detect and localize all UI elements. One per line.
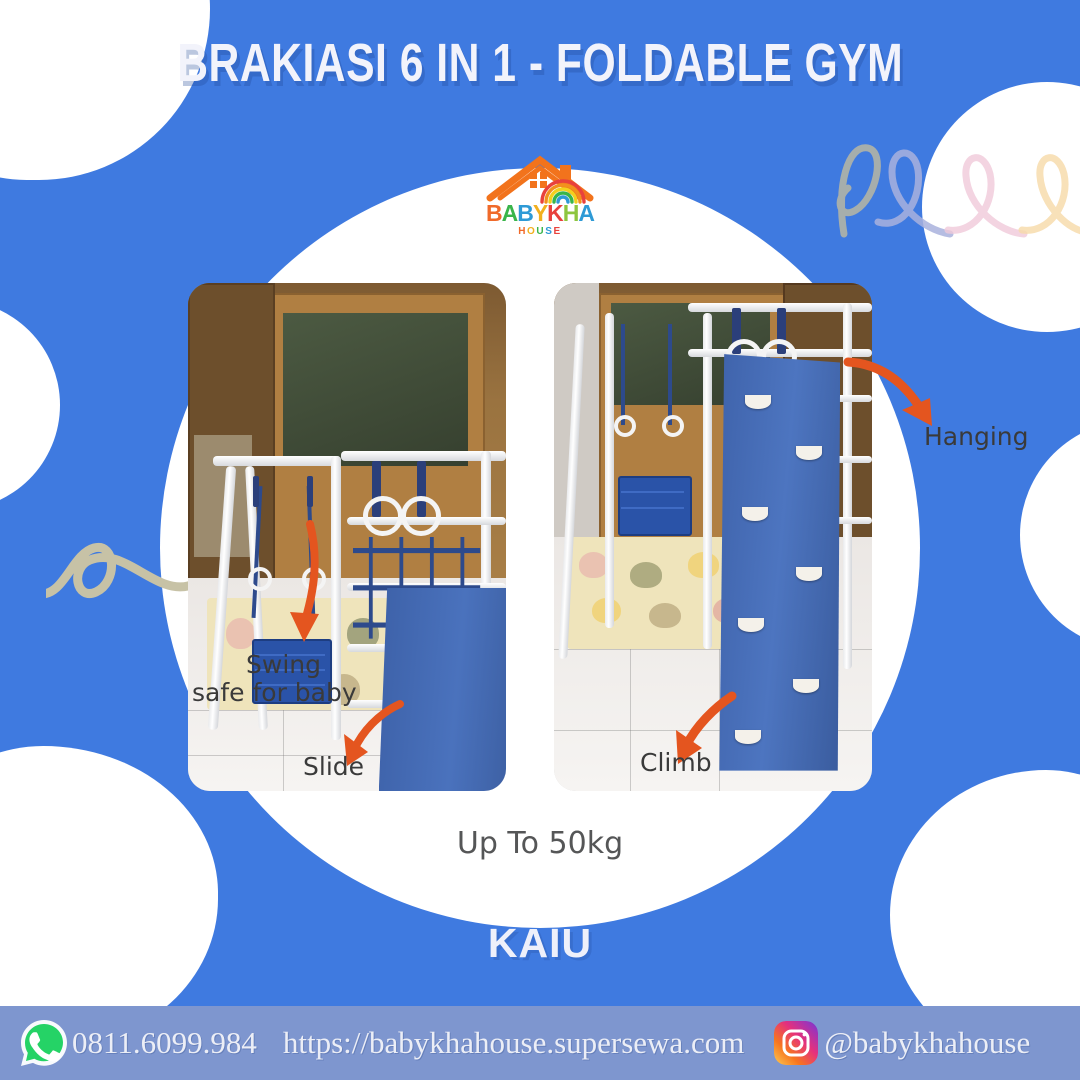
right-photo-scene <box>554 283 872 791</box>
climb-hold <box>742 507 768 521</box>
annotation-slide: Slide <box>303 752 364 781</box>
annotation-swing: Swing <box>246 650 321 679</box>
decorative-blob-mid-right <box>1020 420 1080 650</box>
capacity-caption: Up To 50kg <box>0 826 1080 861</box>
climb-hold <box>796 446 822 460</box>
contact-footer: 0811.6099.984 https://babykhahouse.super… <box>0 1006 1080 1080</box>
annotation-safe-for-baby: safe for baby <box>192 678 357 707</box>
annotation-hanging: Hanging <box>924 422 1029 451</box>
annotation-climb: Climb <box>640 748 712 777</box>
climb-hold <box>793 679 819 693</box>
model-name: KAIU <box>0 920 1080 967</box>
logo-subtitle: HOUSE <box>476 227 604 237</box>
title-banner: BRAKIASI 6 IN 1 - FOLDABLE GYM <box>0 0 1080 128</box>
whatsapp-contact[interactable]: 0811.6099.984 <box>0 1017 257 1069</box>
brand-logo: BABYKHA HOUSE <box>476 148 604 252</box>
phone-number: 0811.6099.984 <box>72 1025 257 1061</box>
climb-hold <box>745 395 771 409</box>
instagram-contact[interactable]: @babykhahouse <box>744 1021 1030 1065</box>
logo-wordmark: BABYKHA <box>476 202 604 225</box>
website-url[interactable]: https://babykhahouse.supersewa.com <box>283 1025 744 1061</box>
page-title: BRAKIASI 6 IN 1 - FOLDABLE GYM <box>177 34 903 95</box>
poster-canvas: BRAKIASI 6 IN 1 - FOLDABLE GYM BABYKHA H… <box>0 0 1080 1080</box>
left-photo <box>188 283 506 791</box>
instagram-handle: @babykhahouse <box>824 1025 1030 1061</box>
decorative-blob-mid-left <box>0 300 60 510</box>
left-photo-scene <box>188 283 506 791</box>
right-photo <box>554 283 872 791</box>
whatsapp-icon <box>18 1017 70 1069</box>
instagram-icon <box>774 1021 818 1065</box>
decorative-blob-bottom-left <box>0 746 218 1046</box>
